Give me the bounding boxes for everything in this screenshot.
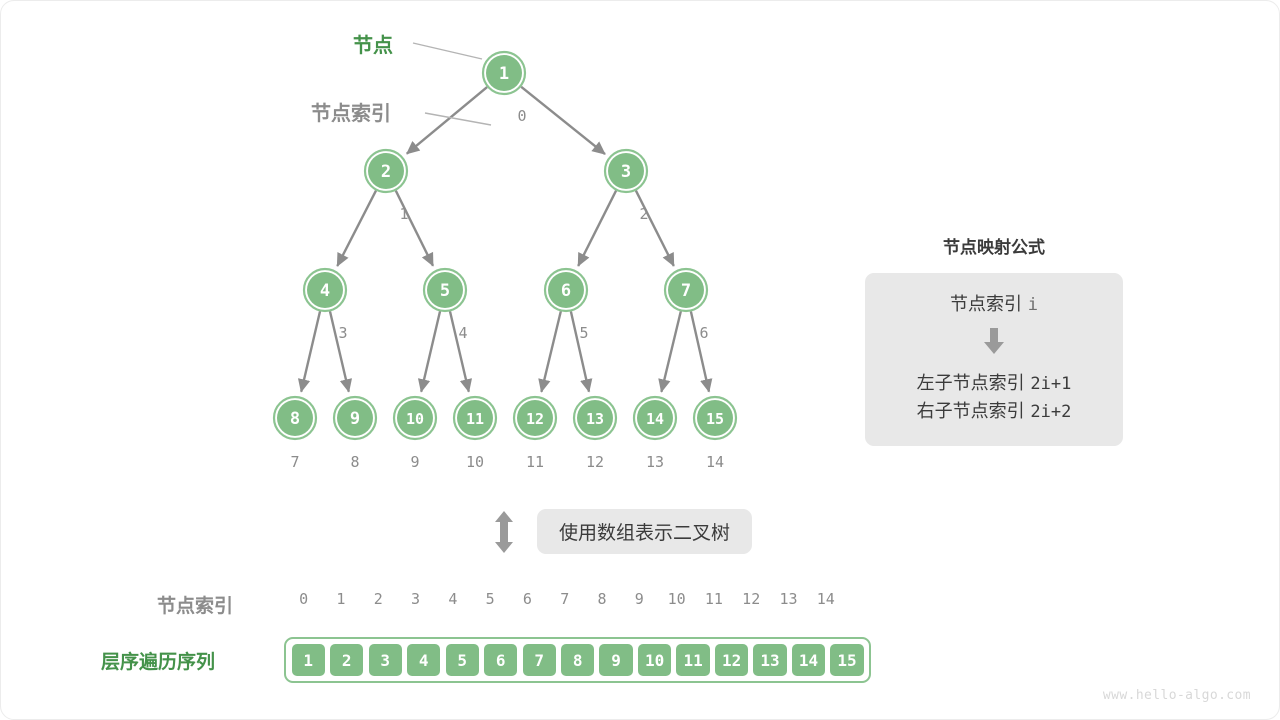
tree-edges <box>301 87 709 392</box>
tree-edge <box>337 191 376 266</box>
array-index-cell: 12 <box>733 590 770 608</box>
array-index-cell: 13 <box>770 590 807 608</box>
tree-node: 6 <box>545 269 587 311</box>
node-index-value: 14 <box>706 453 724 471</box>
arrow-down-icon <box>979 326 1009 356</box>
array-cell: 10 <box>636 642 673 678</box>
array-cell: 15 <box>828 642 865 678</box>
array-index-cell: 9 <box>621 590 658 608</box>
array-index-cell: 7 <box>546 590 583 608</box>
annotation-node-label: 节点 <box>353 29 393 58</box>
tree-node: 2 <box>365 150 407 192</box>
array-index-cell: 4 <box>434 590 471 608</box>
tree-node: 9 <box>334 397 376 439</box>
node-value: 8 <box>290 409 300 429</box>
node-value: 11 <box>466 410 484 428</box>
node-index-value: 10 <box>466 453 484 471</box>
formula-input-line: 节点索引 i <box>875 291 1113 319</box>
tree-edge <box>396 191 433 266</box>
array-cell: 1 <box>290 642 327 678</box>
tree-edge <box>661 311 680 391</box>
array-cell: 2 <box>328 642 365 678</box>
node-index-value: 13 <box>646 453 664 471</box>
level-order-array: 123456789101112131415 <box>284 637 871 683</box>
tree-node: 3 <box>605 150 647 192</box>
array-index-cell: 11 <box>695 590 732 608</box>
node-index-value: 3 <box>338 324 347 342</box>
tree-edge <box>521 87 605 154</box>
array-index-cell: 0 <box>285 590 322 608</box>
watermark: www.hello-algo.com <box>1103 688 1251 703</box>
tree-edge <box>421 311 440 391</box>
tree-node: 5 <box>424 269 466 311</box>
node-value: 13 <box>586 410 604 428</box>
tree-edge <box>578 191 616 266</box>
tree-node: 10 <box>394 397 436 439</box>
array-cell: 13 <box>751 642 788 678</box>
level-order-array-label: 层序遍历序列 <box>101 647 215 674</box>
array-cell: 7 <box>521 642 558 678</box>
array-index-cell: 10 <box>658 590 695 608</box>
node-value: 5 <box>440 281 450 301</box>
formula-left-child-expr: 2i+1 <box>1030 374 1071 394</box>
array-index-row-label: 节点索引 <box>157 591 233 618</box>
array-index-cell: 2 <box>360 590 397 608</box>
node-index-value: 8 <box>350 453 359 471</box>
tree-edge <box>636 191 674 266</box>
tree-node: 7 <box>665 269 707 311</box>
tree-edge <box>301 311 320 391</box>
leader-line-node-index <box>425 113 491 125</box>
array-cell: 11 <box>674 642 711 678</box>
array-cell: 6 <box>482 642 519 678</box>
node-value: 3 <box>621 162 631 182</box>
tree-edge <box>541 311 560 391</box>
formula-input-variable: i <box>1028 295 1038 315</box>
formula-left-child-line: 左子节点索引 2i+1 <box>875 370 1113 398</box>
node-index-value: 0 <box>517 107 526 125</box>
node-value: 7 <box>681 281 691 301</box>
node-value: 1 <box>499 64 509 84</box>
tree-node: 1 <box>483 52 525 94</box>
leader-line-node <box>413 43 482 59</box>
transform-caption: 使用数组表示二叉树 <box>537 509 752 554</box>
node-index-value: 11 <box>526 453 544 471</box>
node-value: 14 <box>646 410 664 428</box>
formula-body: 节点索引 i 左子节点索引 2i+1 右子节点索引 2i+2 <box>865 273 1123 446</box>
transform-band: 使用数组表示二叉树 <box>489 509 752 554</box>
array-cell: 5 <box>444 642 481 678</box>
array-index-row: 01234567891011121314 <box>285 590 844 608</box>
array-cell: 12 <box>713 642 750 678</box>
annotation-node-index-label: 节点索引 <box>311 97 391 126</box>
array-index-cell: 5 <box>471 590 508 608</box>
node-value: 10 <box>406 410 424 428</box>
formula-right-child-expr: 2i+2 <box>1030 402 1071 422</box>
node-value: 9 <box>350 409 360 429</box>
node-index-value: 12 <box>586 453 604 471</box>
node-index-value: 9 <box>410 453 419 471</box>
array-cell: 8 <box>559 642 596 678</box>
node-index-value: 1 <box>399 205 408 223</box>
array-cell: 3 <box>367 642 404 678</box>
array-cell: 14 <box>790 642 827 678</box>
node-value: 2 <box>381 162 391 182</box>
node-index-value: 7 <box>290 453 299 471</box>
node-index-value: 5 <box>579 324 588 342</box>
node-value: 15 <box>706 410 724 428</box>
annotation-leader-lines <box>413 43 491 125</box>
diagram-canvas: 01234567891011121314 1234567891011121314… <box>0 0 1280 720</box>
array-index-cell: 6 <box>509 590 546 608</box>
tree-node: 14 <box>634 397 676 439</box>
node-value: 12 <box>526 410 544 428</box>
node-index-value: 2 <box>639 205 648 223</box>
array-index-cell: 14 <box>807 590 844 608</box>
tree-node: 15 <box>694 397 736 439</box>
node-mapping-formula-card: 节点映射公式 节点索引 i 左子节点索引 2i+1 右子节点索引 2i+2 <box>865 233 1123 446</box>
array-cell: 4 <box>405 642 442 678</box>
array-index-cell: 1 <box>322 590 359 608</box>
tree-node: 13 <box>574 397 616 439</box>
formula-input-text: 节点索引 <box>950 294 1022 315</box>
tree-edge <box>407 87 487 154</box>
arrow-up-down-icon <box>489 510 519 554</box>
tree-node: 4 <box>304 269 346 311</box>
tree-node: 8 <box>274 397 316 439</box>
formula-right-child-line: 右子节点索引 2i+2 <box>875 398 1113 426</box>
formula-left-child-text: 左子节点索引 <box>917 373 1025 394</box>
node-value: 4 <box>320 281 330 301</box>
array-index-cell: 3 <box>397 590 434 608</box>
formula-title: 节点映射公式 <box>865 233 1123 258</box>
formula-right-child-text: 右子节点索引 <box>917 401 1025 422</box>
array-cell: 9 <box>597 642 634 678</box>
array-index-cell: 8 <box>583 590 620 608</box>
node-index-value: 6 <box>699 324 708 342</box>
tree-node: 11 <box>454 397 496 439</box>
node-value: 6 <box>561 281 571 301</box>
tree-node: 12 <box>514 397 556 439</box>
node-index-value: 4 <box>458 324 467 342</box>
